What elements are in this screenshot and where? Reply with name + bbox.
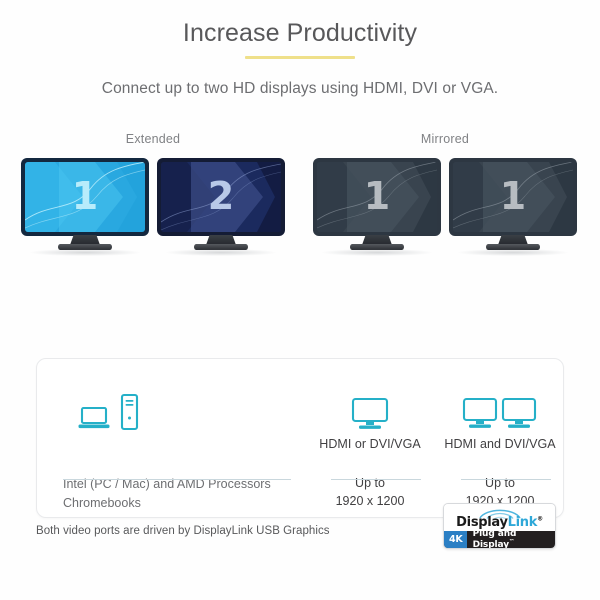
single-monitor-icon xyxy=(350,397,390,431)
monitor-extended-1: 1 xyxy=(21,158,149,251)
column-divider xyxy=(63,479,291,480)
monitor-extended-2: 2 xyxy=(157,158,285,251)
monitor-screen: 2 xyxy=(161,162,281,232)
device-icons xyxy=(37,375,305,433)
displaylink-word-link: Link xyxy=(508,515,537,530)
registered-mark: ® xyxy=(537,516,543,523)
displaylink-logo: DisplayLink® 4K Plug and Display™ xyxy=(443,503,556,549)
device-line-1: Intel (PC / Mac) and AMD Processors xyxy=(63,475,305,494)
displaylink-logo-top: DisplayLink® xyxy=(444,504,555,531)
monitor-screen: 1 xyxy=(317,162,437,232)
resolution-prefix: Up to xyxy=(435,475,565,493)
display-mode-extended: Extended 1 xyxy=(18,132,288,251)
monitor-bezel: 1 xyxy=(313,158,441,236)
displaylink-word-display: Display xyxy=(456,515,508,530)
page-title: Increase Productivity xyxy=(0,18,600,48)
display-modes-illustration: Extended 1 xyxy=(0,132,600,267)
dual-display-icons xyxy=(435,375,565,433)
compatibility-card: Intel (PC / Mac) and AMD Processors Chro… xyxy=(36,358,564,518)
stand-shadow xyxy=(166,249,276,256)
monitor-mirrored-1: 1 xyxy=(313,158,441,251)
single-display-icons xyxy=(305,375,435,433)
compat-column-single-display: HDMI or DVI/VGA Up to 1920 x 1200 xyxy=(305,375,435,517)
trademark-mark: ™ xyxy=(509,539,514,545)
monitor-stand xyxy=(449,235,577,251)
compat-header-devices xyxy=(37,433,305,455)
monitor-stand xyxy=(21,235,149,251)
monitor-screen: 1 xyxy=(25,162,145,232)
resolution-prefix: Up to xyxy=(305,475,435,493)
compat-column-devices: Intel (PC / Mac) and AMD Processors Chro… xyxy=(37,375,305,517)
device-line-2: Chromebooks xyxy=(63,494,305,513)
header: Increase Productivity Connect up to two … xyxy=(0,0,600,98)
dual-monitor-icon xyxy=(462,397,538,431)
desktop-tower-icon xyxy=(120,393,139,431)
displaylink-tagline: Plug and Display™ xyxy=(467,529,555,549)
monitor-bezel: 1 xyxy=(21,158,149,236)
page-subtitle: Connect up to two HD displays using HDMI… xyxy=(0,80,600,98)
displaylink-wordmark: DisplayLink® xyxy=(456,516,543,529)
monitor-mirrored-2: 1 xyxy=(449,158,577,251)
laptop-icon xyxy=(77,405,111,431)
monitor-bezel: 2 xyxy=(157,158,285,236)
monitor-number: 2 xyxy=(161,162,281,232)
compat-header-single-display: HDMI or DVI/VGA xyxy=(305,433,435,455)
monitor-screen: 1 xyxy=(453,162,573,232)
monitor-pair-mirrored: 1 xyxy=(310,158,580,251)
compat-column-dual-display: HDMI and DVI/VGA Up to 1920 x 1200 xyxy=(435,375,565,517)
monitor-number: 1 xyxy=(453,162,573,232)
monitor-number: 1 xyxy=(317,162,437,232)
monitor-number: 1 xyxy=(25,162,145,232)
compatibility-grid: Intel (PC / Mac) and AMD Processors Chro… xyxy=(37,359,563,517)
display-mode-mirrored: Mirrored 1 xyxy=(310,132,580,251)
column-divider xyxy=(461,479,551,480)
stand-shadow xyxy=(322,249,432,256)
monitor-pair-extended: 1 xyxy=(18,158,288,251)
title-underline-rule xyxy=(245,56,355,59)
stand-shadow xyxy=(30,249,140,256)
monitor-stand xyxy=(313,235,441,251)
monitor-stand xyxy=(157,235,285,251)
compat-header-dual-display: HDMI and DVI/VGA xyxy=(435,433,565,455)
column-divider xyxy=(331,479,421,480)
compat-body-single-display: Up to 1920 x 1200 xyxy=(305,475,435,511)
stand-shadow xyxy=(458,249,568,256)
mode-label-mirrored: Mirrored xyxy=(310,132,580,146)
mode-label-extended: Extended xyxy=(18,132,288,146)
footnote-text: Both video ports are driven by DisplayLi… xyxy=(36,525,330,537)
monitor-bezel: 1 xyxy=(449,158,577,236)
displaylink-logo-bottom: 4K Plug and Display™ xyxy=(444,531,555,548)
resolution-value: 1920 x 1200 xyxy=(305,493,435,511)
product-infographic: Increase Productivity Connect up to two … xyxy=(0,0,600,600)
badge-4k: 4K xyxy=(444,531,467,548)
compat-body-devices: Intel (PC / Mac) and AMD Processors Chro… xyxy=(37,475,305,513)
